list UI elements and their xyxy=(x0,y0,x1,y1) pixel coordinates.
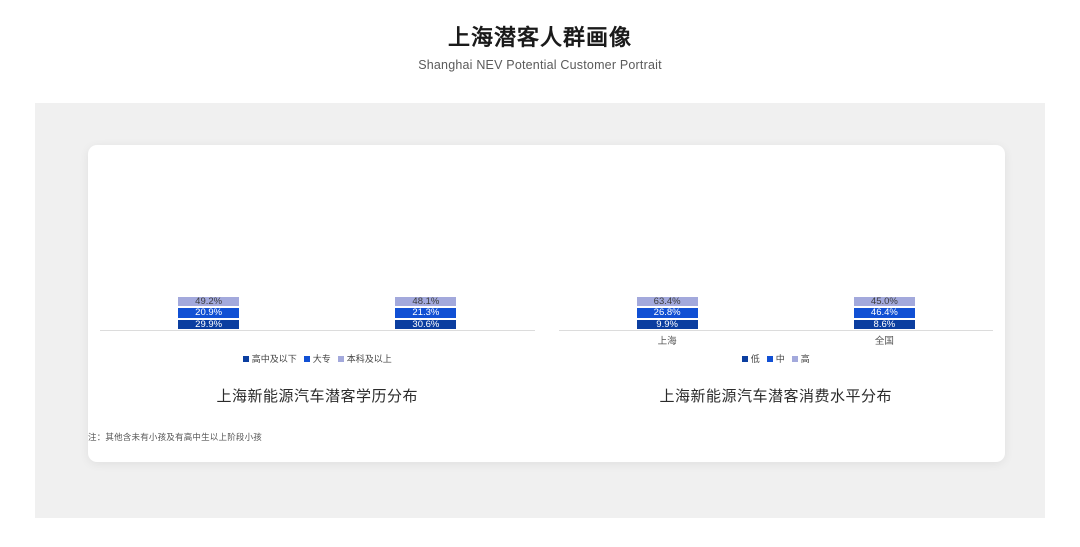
legend-item[interactable]: 中 xyxy=(767,352,785,365)
chart-education-distribution: 49.2% 20.9% 29.9% 48.1% 21.3% 30.6% xyxy=(88,145,547,462)
category-label: 上海 xyxy=(636,333,699,349)
bar-segment: 49.2% xyxy=(177,296,240,308)
stacked-bar[interactable]: 45.0% 46.4% 8.6% xyxy=(853,296,916,331)
bar-segment: 26.8% xyxy=(636,307,699,319)
charts-card: 49.2% 20.9% 29.9% 48.1% 21.3% 30.6% xyxy=(88,145,1005,462)
chart-legend-1: 高中及以下 大专 本科及以上 xyxy=(88,352,547,365)
legend-swatch-icon xyxy=(767,356,773,362)
chart-plot-area-2: 63.4% 26.8% 9.9% 45.0% 46.4% 8.6% xyxy=(559,175,994,330)
legend-label: 本科及以上 xyxy=(347,352,392,365)
chart-caption-2: 上海新能源汽车潜客消费水平分布 xyxy=(547,385,1006,406)
legend-swatch-icon xyxy=(792,356,798,362)
chart-consumption-level-distribution: 63.4% 26.8% 9.9% 45.0% 46.4% 8.6% 上海 全国 xyxy=(547,145,1006,462)
x-axis-line-1 xyxy=(100,330,535,331)
legend-label: 高中及以下 xyxy=(252,352,297,365)
legend-label: 中 xyxy=(776,352,785,365)
bar-segment: 21.3% xyxy=(394,307,457,319)
legend-swatch-icon xyxy=(742,356,748,362)
stacked-bar[interactable]: 63.4% 26.8% 9.9% xyxy=(636,296,699,331)
x-axis-line-2 xyxy=(559,330,994,331)
bar-segment: 30.6% xyxy=(394,319,457,331)
bar-group-1: 49.2% 20.9% 29.9% 48.1% 21.3% 30.6% xyxy=(100,175,535,330)
legend-item[interactable]: 高中及以下 xyxy=(243,352,297,365)
legend-item[interactable]: 本科及以上 xyxy=(338,352,392,365)
category-labels-1 xyxy=(100,333,535,349)
chart-caption-1: 上海新能源汽车潜客学历分布 xyxy=(88,385,547,406)
legend-item[interactable]: 高 xyxy=(792,352,810,365)
page-title: 上海潜客人群画像 xyxy=(0,24,1080,52)
legend-item[interactable]: 低 xyxy=(742,352,760,365)
bar-segment: 48.1% xyxy=(394,296,457,308)
legend-swatch-icon xyxy=(243,356,249,362)
chart-legend-2: 低 中 高 xyxy=(547,352,1006,365)
stacked-bar[interactable]: 48.1% 21.3% 30.6% xyxy=(394,296,457,331)
chart-plot-area-1: 49.2% 20.9% 29.9% 48.1% 21.3% 30.6% xyxy=(100,175,535,330)
bar-segment: 29.9% xyxy=(177,319,240,331)
charts-row: 49.2% 20.9% 29.9% 48.1% 21.3% 30.6% xyxy=(88,145,1005,462)
legend-item[interactable]: 大专 xyxy=(304,352,331,365)
bar-segment: 20.9% xyxy=(177,307,240,319)
page-header: 上海潜客人群画像 Shanghai NEV Potential Customer… xyxy=(0,0,1080,72)
bar-segment: 45.0% xyxy=(853,296,916,308)
bar-segment: 63.4% xyxy=(636,296,699,308)
bar-segment: 46.4% xyxy=(853,307,916,319)
bar-group-2: 63.4% 26.8% 9.9% 45.0% 46.4% 8.6% xyxy=(559,175,994,330)
stacked-bar[interactable]: 49.2% 20.9% 29.9% xyxy=(177,296,240,331)
legend-label: 高 xyxy=(801,352,810,365)
category-labels-2: 上海 全国 xyxy=(559,333,994,349)
category-label: 全国 xyxy=(853,333,916,349)
footnote: 注：其他含未有小孩及有高中生以上阶段小孩 xyxy=(88,431,262,443)
legend-swatch-icon xyxy=(338,356,344,362)
page-subtitle: Shanghai NEV Potential Customer Portrait xyxy=(0,58,1080,72)
legend-label: 大专 xyxy=(313,352,331,365)
bar-segment: 9.9% xyxy=(636,319,699,331)
legend-label: 低 xyxy=(751,352,760,365)
bar-segment: 8.6% xyxy=(853,319,916,331)
legend-swatch-icon xyxy=(304,356,310,362)
